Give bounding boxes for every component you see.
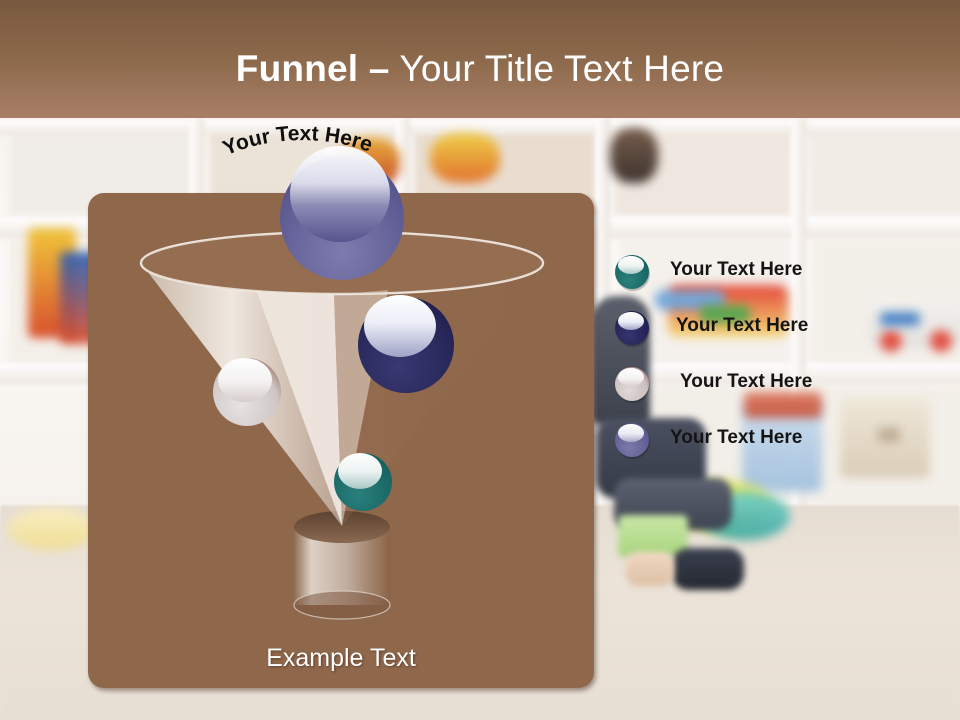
toy [610, 128, 658, 183]
sphere-bullet-icon [612, 252, 652, 292]
legend-item-4[interactable]: Your Text Here [612, 420, 942, 476]
legend-label-2: Your Text Here [676, 315, 808, 337]
legend-item-2[interactable]: Your Text Here [612, 308, 942, 364]
legend-label-1: Your Text Here [670, 259, 802, 281]
sphere-bullet-icon [612, 308, 652, 348]
sphere-bullet-icon [612, 420, 652, 460]
cubby [810, 130, 960, 215]
funnel-diagram[interactable] [88, 130, 594, 650]
legend-item-1[interactable]: Your Text Here [612, 252, 942, 308]
legend-label-3: Your Text Here [680, 371, 812, 393]
page-title-bold: Funnel – [236, 48, 390, 89]
legend-label-4: Your Text Here [670, 427, 802, 449]
sphere-bullet-icon [612, 364, 652, 404]
page-title-rest: Your Title Text Here [390, 48, 725, 89]
child-figure [626, 552, 674, 586]
funnel-arc-label: Your Text Here [175, 118, 425, 198]
child-figure [672, 548, 744, 590]
svg-text:Your Text Here: Your Text Here [220, 122, 376, 160]
page-title: Funnel – Your Title Text Here [0, 48, 960, 90]
legend: Your Text Here Your Text Here [612, 252, 942, 476]
slide-canvas: Funnel – Your Title Text Here [0, 0, 960, 720]
panel-caption: Example Text [88, 644, 594, 673]
toy [8, 508, 96, 550]
arc-label-text: Your Text Here [220, 122, 376, 160]
legend-item-3[interactable]: Your Text Here [612, 364, 942, 420]
